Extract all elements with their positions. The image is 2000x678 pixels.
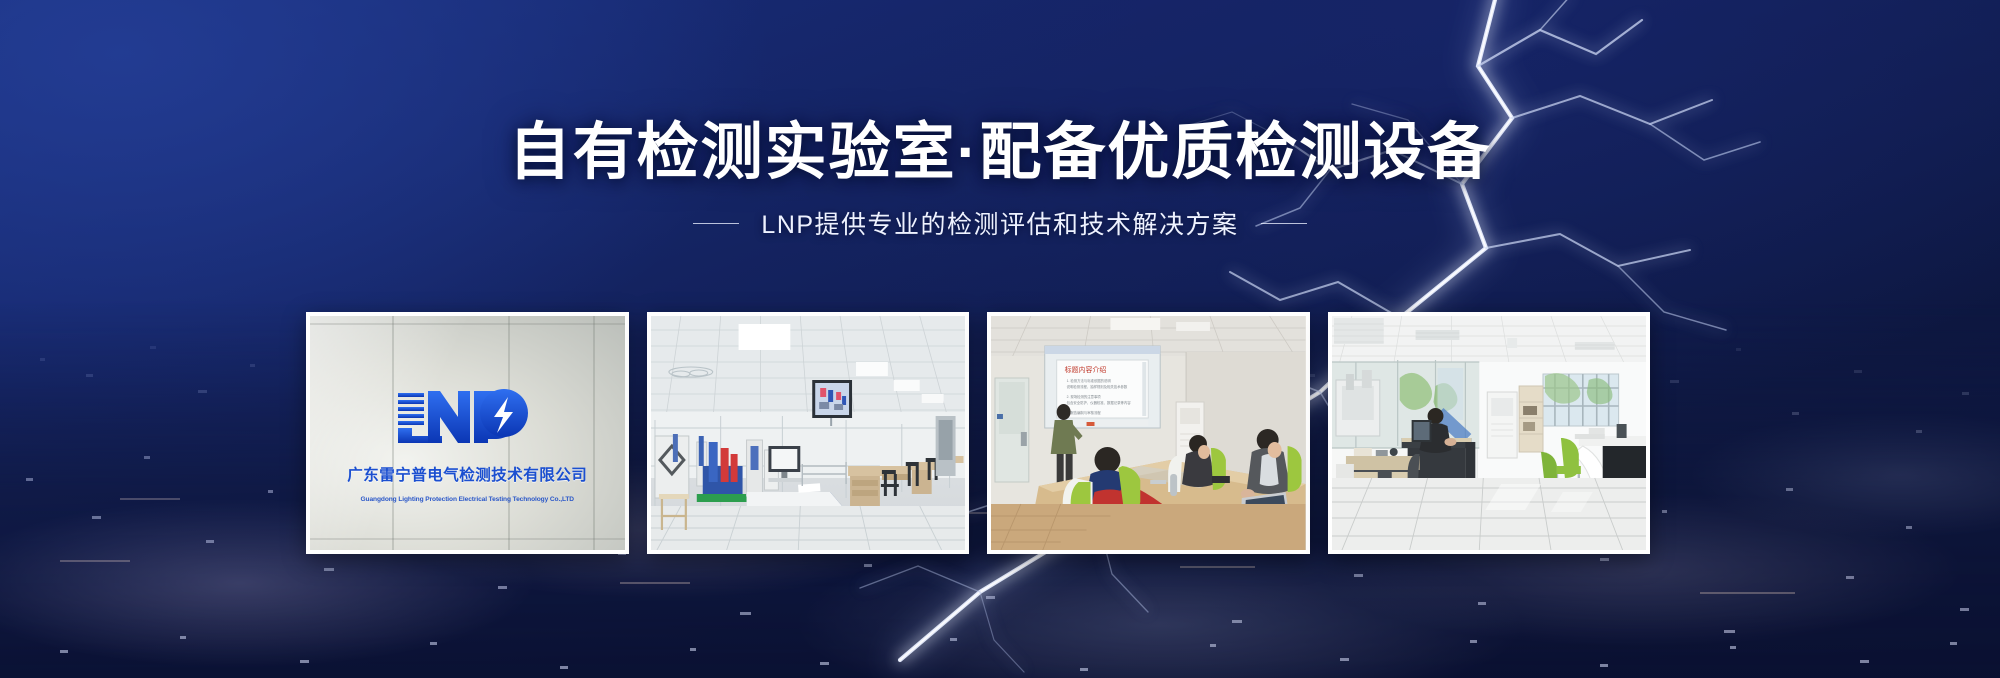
svg-text:包含安全防护、仪器校准、数据记录等内容: 包含安全防护、仪器校准、数据记录等内容 — [1067, 400, 1132, 405]
page-title: 自有检测实验室·配备优质检测设备 — [0, 118, 2000, 187]
page-subtitle: LNP提供专业的检测评估和技术解决方案 — [761, 205, 1238, 241]
meeting-room-photo-icon: 标题内容介绍 1. 检测方法与标准依据的说明 说明检测流程、抽样规则及相关技术参… — [991, 316, 1306, 550]
rule-left-icon — [693, 223, 739, 224]
photo-gallery: 广东雷宁普电气检测技术有限公司 Guangdong Lighting Prote… — [306, 312, 1650, 554]
laboratory-photo-icon — [651, 316, 966, 550]
hero-text-block: 自有检测实验室·配备优质检测设备 LNP提供专业的检测评估和技术解决方案 — [0, 0, 2000, 241]
lnp-logo-icon — [392, 385, 542, 443]
gallery-photo-office-area[interactable] — [1328, 312, 1651, 554]
sign-company-name-en: Guangdong Lighting Protection Electrical… — [361, 496, 574, 503]
rule-right-icon — [1261, 223, 1307, 224]
svg-text:标题内容介绍: 标题内容介绍 — [1065, 365, 1107, 374]
svg-text:3. 报告编制与审核流程: 3. 报告编制与审核流程 — [1067, 410, 1102, 415]
subtitle-row: LNP提供专业的检测评估和技术解决方案 — [0, 205, 2000, 241]
sign-company-name-cn: 广东雷宁普电气检测技术有限公司 — [347, 463, 587, 485]
gallery-photo-testing-laboratory[interactable] — [647, 312, 970, 554]
svg-text:1. 检测方法与标准依据的说明: 1. 检测方法与标准依据的说明 — [1067, 378, 1112, 383]
gallery-photo-company-sign[interactable]: 广东雷宁普电气检测技术有限公司 Guangdong Lighting Prote… — [306, 312, 629, 554]
hero-banner: 自有检测实验室·配备优质检测设备 LNP提供专业的检测评估和技术解决方案 — [0, 0, 2000, 678]
svg-text:2. 现场检测的注意事项: 2. 现场检测的注意事项 — [1067, 394, 1102, 399]
svg-text:说明检测流程、抽样规则及相关技术参数: 说明检测流程、抽样规则及相关技术参数 — [1067, 384, 1128, 389]
gallery-photo-training-room[interactable]: 标题内容介绍 1. 检测方法与标准依据的说明 说明检测流程、抽样规则及相关技术参… — [987, 312, 1310, 554]
office-photo-icon — [1332, 316, 1647, 550]
